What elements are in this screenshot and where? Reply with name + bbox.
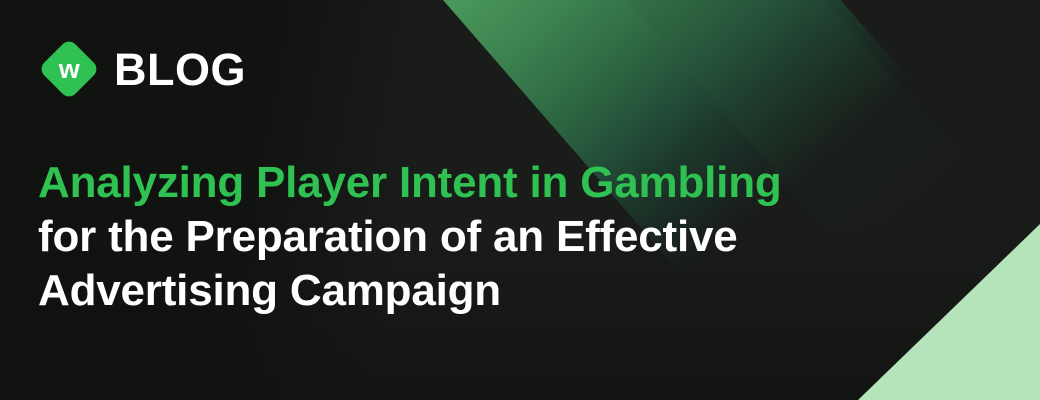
brand-lockup[interactable]: w BLOG xyxy=(38,38,246,100)
logo-letter: w xyxy=(59,56,80,83)
headline-line-1: Analyzing Player Intent in Gambling xyxy=(38,156,978,210)
diamond-logo-icon[interactable]: w xyxy=(38,38,100,100)
blog-hero-banner: w BLOG Analyzing Player Intent in Gambli… xyxy=(0,0,1040,400)
page-title: Analyzing Player Intent in Gambling for … xyxy=(38,156,978,318)
headline-line-3: Advertising Campaign xyxy=(38,264,978,318)
headline-line-2: for the Preparation of an Effective xyxy=(38,210,978,264)
brand-word-blog: BLOG xyxy=(114,47,246,92)
